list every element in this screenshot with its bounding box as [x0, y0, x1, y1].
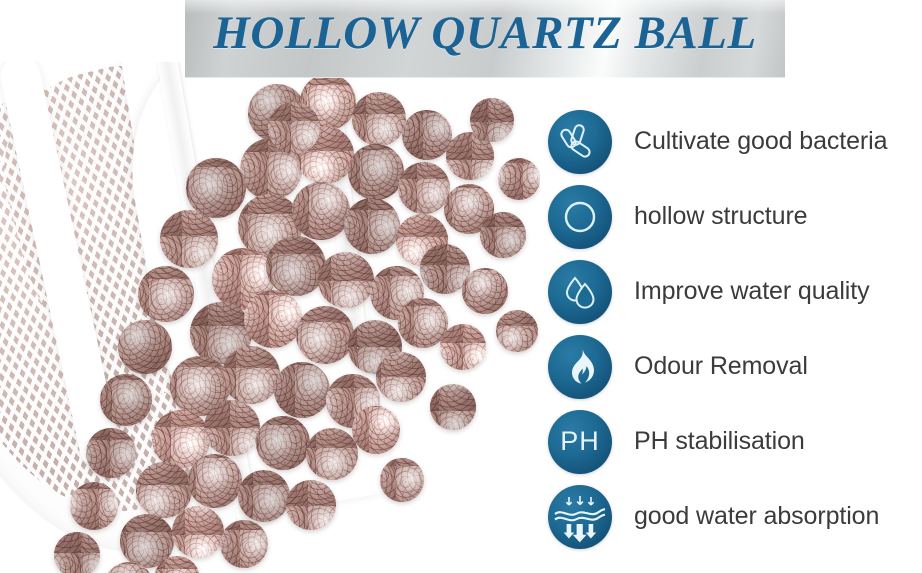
feature-label: Improve water quality	[634, 277, 870, 306]
quartz-ball	[402, 110, 452, 160]
quartz-ball	[306, 428, 358, 480]
ph-icon-text: PH	[560, 428, 600, 455]
quartz-ball	[86, 428, 136, 478]
quartz-ball	[266, 236, 326, 296]
quartz-ball	[188, 454, 242, 508]
quartz-ball	[318, 252, 374, 308]
water-absorption-icon	[548, 485, 612, 549]
quartz-ball	[430, 384, 476, 430]
product-infographic: HOLLOW QUARTZ BALL Cultivate good bacter…	[0, 0, 922, 573]
feature-label: Cultivate good bacteria	[634, 127, 887, 156]
quartz-ball	[160, 210, 218, 268]
ring-icon	[548, 185, 612, 249]
quartz-ball	[204, 400, 260, 456]
quartz-ball	[498, 158, 540, 200]
feature-row-cultivate-good-bacteria: Cultivate good bacteria	[548, 104, 922, 179]
quartz-ball	[496, 310, 538, 352]
feature-row-improve-water-quality: Improve water quality	[548, 254, 922, 329]
quartz-ball	[186, 158, 246, 218]
quartz-ball	[480, 212, 526, 258]
feature-list: Cultivate good bacteria hollow structure…	[548, 104, 922, 554]
flame-icon	[548, 335, 612, 399]
feature-label: good water absorption	[634, 502, 879, 531]
quartz-ball	[296, 306, 354, 364]
quartz-ball	[462, 268, 508, 314]
feature-label: hollow structure	[634, 202, 807, 231]
quartz-ball	[344, 198, 400, 254]
quartz-ball	[470, 98, 514, 142]
quartz-ball	[440, 324, 486, 370]
quartz-ball	[274, 362, 330, 418]
quartz-ball	[398, 162, 450, 214]
quartz-ball	[256, 416, 310, 470]
quartz-ball	[238, 470, 290, 522]
feature-label: PH stabilisation	[634, 427, 805, 456]
product-photo	[0, 62, 540, 573]
quartz-ball	[100, 374, 152, 426]
quartz-ball	[244, 290, 302, 348]
quartz-ball	[172, 506, 224, 558]
feature-row-ph-stabilisation: PH PH stabilisation	[548, 404, 922, 479]
title-banner: HOLLOW QUARTZ BALL	[185, 0, 785, 78]
quartz-ball	[352, 92, 406, 146]
quartz-ball	[138, 266, 194, 322]
quartz-ball	[292, 182, 350, 240]
feature-row-good-water-absorption: good water absorption	[548, 479, 922, 554]
quartz-ball	[54, 532, 100, 573]
page-title: HOLLOW QUARTZ BALL	[185, 6, 785, 60]
feature-label: Odour Removal	[634, 352, 808, 381]
water-drops-icon	[548, 260, 612, 324]
ph-icon: PH	[548, 410, 612, 474]
quartz-ball	[118, 320, 172, 374]
quartz-ball	[352, 406, 400, 454]
quartz-ball	[222, 346, 280, 404]
quartz-ball	[380, 458, 424, 502]
feature-row-hollow-structure: hollow structure	[548, 179, 922, 254]
feature-row-odour-removal: Odour Removal	[548, 329, 922, 404]
quartz-ball	[376, 352, 426, 402]
quartz-ball	[268, 102, 320, 154]
quartz-ball	[286, 480, 336, 530]
quartz-ball	[220, 520, 268, 568]
quartz-ball	[348, 144, 404, 200]
bacteria-icon	[548, 110, 612, 174]
quartz-ball	[70, 482, 118, 530]
